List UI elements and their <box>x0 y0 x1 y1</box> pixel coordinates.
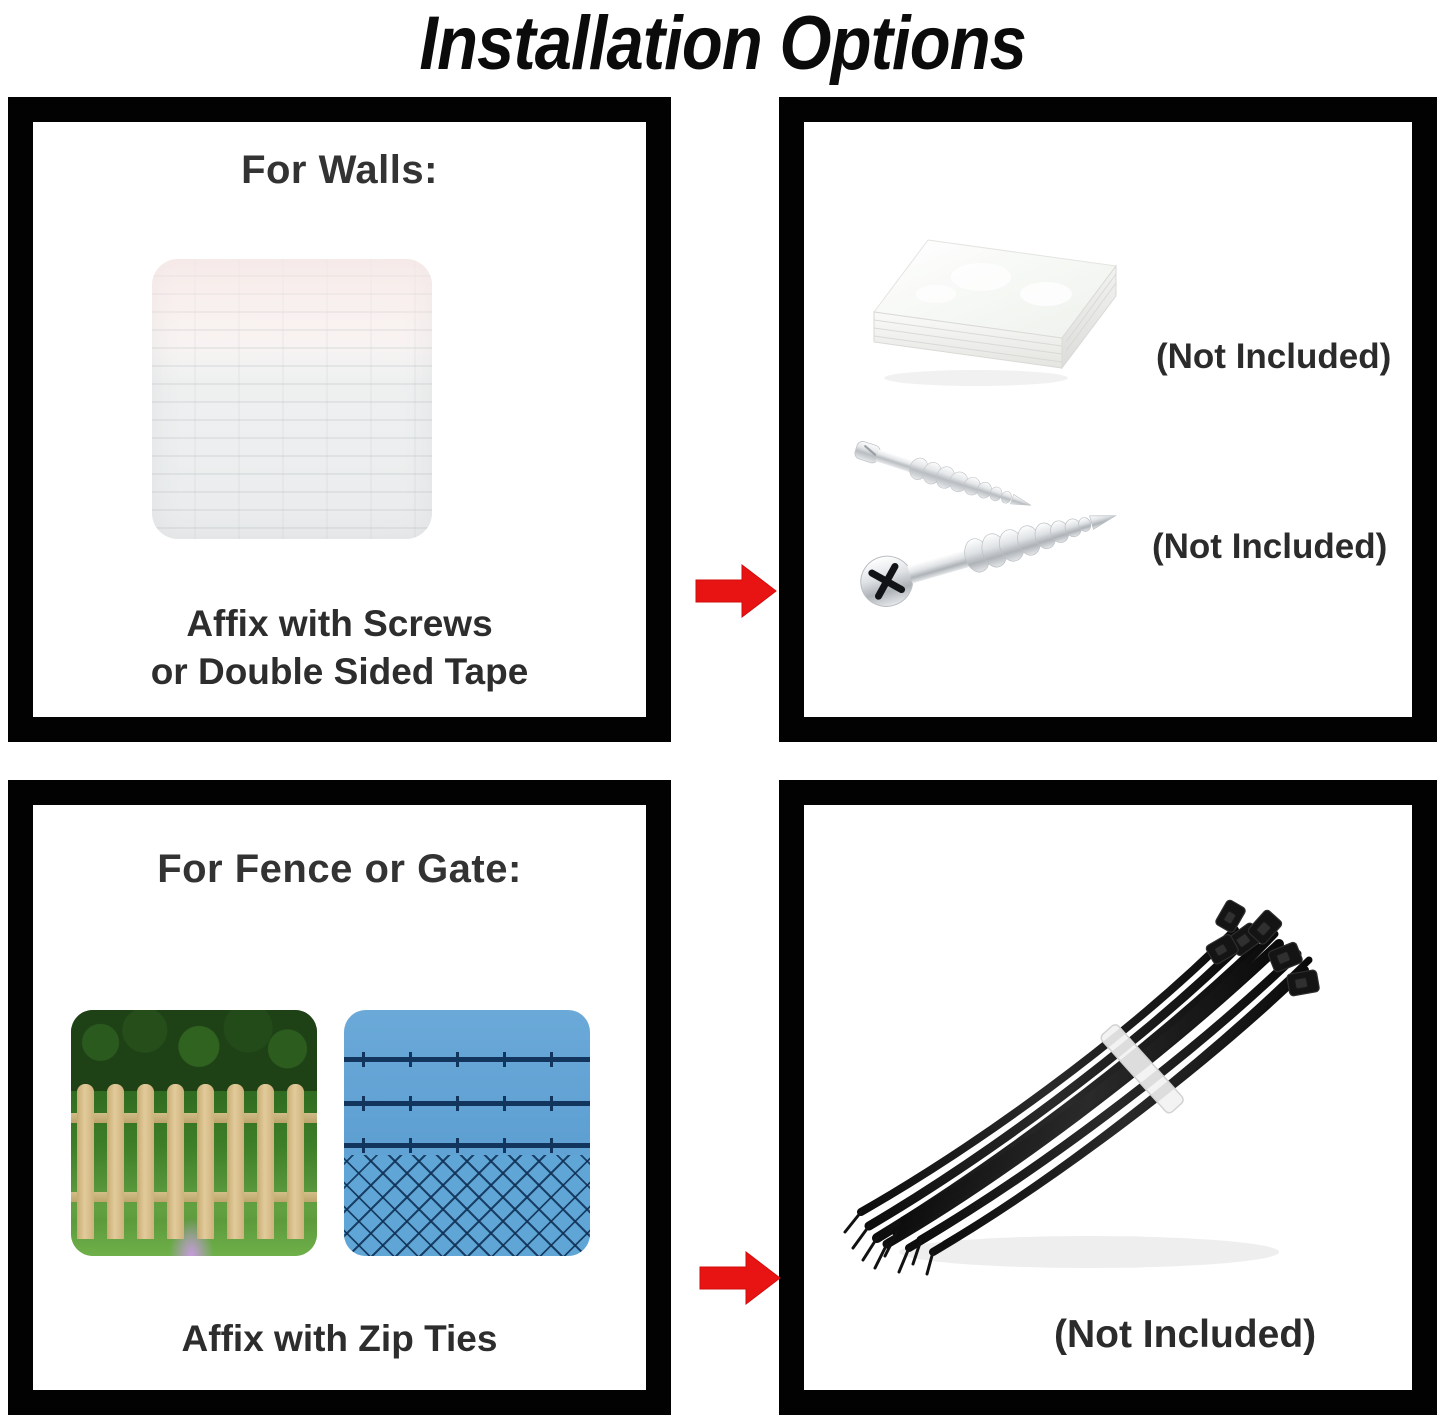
for-walls-caption: Affix with Screws or Double Sided Tape <box>33 600 646 695</box>
tape-not-included-label: (Not Included) <box>1156 337 1391 377</box>
page-header: Installation Options <box>0 0 1445 88</box>
wooden-picket-fence-photo <box>71 1010 317 1256</box>
brick-warm-highlight <box>152 259 432 365</box>
screws-not-included-label: (Not Included) <box>1152 527 1387 567</box>
double-sided-tape-stack <box>866 232 1126 392</box>
zip-ties-not-included-label: (Not Included) <box>1054 1313 1316 1357</box>
for-walls-caption-line-1: Affix with Screws <box>33 600 646 647</box>
fence-pickets <box>71 1010 317 1256</box>
zip-ties-icon <box>839 860 1339 1290</box>
red-arrow-right-walls <box>694 562 778 620</box>
installation-options-grid: For Walls: Affix with Screws or Double S… <box>8 97 1437 1415</box>
panel-fence-hardware: (Not Included) <box>779 780 1437 1415</box>
panel-wall-hardware: (Not Included) <box>779 97 1437 742</box>
chain-link-barbed-wire-fence-photo <box>344 1010 590 1256</box>
silver-wood-screws <box>834 422 1164 622</box>
barbed-wire-strand-1 <box>344 1057 590 1062</box>
page-title: Installation Options <box>419 6 1026 82</box>
for-fence-caption: Affix with Zip Ties <box>33 1315 646 1362</box>
screws-icon <box>834 422 1164 622</box>
panel-for-fence-or-gate: For Fence or Gate: <box>8 780 671 1415</box>
for-fence-or-gate-heading: For Fence or Gate: <box>33 847 646 892</box>
black-zip-tie-bundle <box>839 860 1339 1290</box>
chain-link-mesh <box>344 1155 590 1256</box>
barbed-wire-strand-2 <box>344 1101 590 1106</box>
for-walls-heading: For Walls: <box>33 148 646 193</box>
red-arrow-right-fence <box>698 1249 782 1307</box>
panel-for-walls: For Walls: Affix with Screws or Double S… <box>8 97 671 742</box>
barbed-wire-strand-3 <box>344 1143 590 1148</box>
tape-stack-icon <box>866 232 1126 392</box>
for-walls-caption-line-2: or Double Sided Tape <box>33 648 646 695</box>
white-brick-wall-swatch <box>152 259 432 539</box>
